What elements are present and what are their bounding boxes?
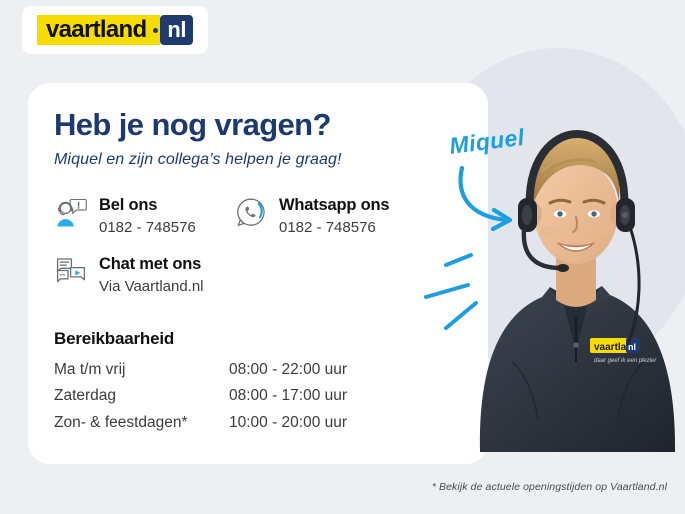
footnote: * Bekijk de actuele openingstijden op Va…	[432, 481, 667, 493]
page-subtitle: Miquel en zijn collega’s helpen je graag…	[54, 151, 488, 169]
contact-card: Heb je nog vragen? Miquel en zijn colleg…	[28, 83, 488, 464]
brand-logo-word: vaartland	[37, 15, 153, 45]
hours-time: 10:00 - 20:00 uur	[229, 412, 379, 438]
headset-person-icon	[54, 196, 88, 230]
table-row: Ma t/m vrij 08:00 - 22:00 uur	[54, 359, 379, 385]
contact-title: Chat met ons	[99, 255, 204, 274]
opening-hours-title: Bereikbaarheid	[54, 329, 488, 349]
spark-lines-icon	[424, 243, 514, 338]
svg-text:daar geef ik een plezier: daar geef ik een plezier	[594, 358, 657, 364]
contact-methods: Bel ons 0182 - 748576	[54, 195, 488, 295]
contact-method-call[interactable]: Bel ons 0182 - 748576	[54, 195, 234, 236]
contact-title: Whatsapp ons	[279, 196, 389, 215]
curved-arrow-icon	[440, 160, 550, 238]
hours-time: 08:00 - 17:00 uur	[229, 385, 379, 411]
brand-logo-tld: nl	[160, 15, 193, 45]
hours-time: 08:00 - 22:00 uur	[229, 359, 379, 385]
brand-logo-lockup: vaartland nl	[37, 15, 193, 45]
opening-hours: Bereikbaarheid Ma t/m vrij 08:00 - 22:00…	[54, 329, 488, 438]
contact-title: Bel ons	[99, 196, 196, 215]
whatsapp-icon	[234, 196, 268, 230]
contact-method-chat[interactable]: Chat met ons Via Vaartland.nl	[54, 254, 314, 295]
brand-logo[interactable]: vaartland nl	[22, 6, 208, 54]
hours-day: Zaterdag	[54, 385, 229, 411]
hours-day: Zon- & feestdagen*	[54, 412, 229, 438]
page-title: Heb je nog vragen?	[54, 109, 488, 142]
contact-value: Via Vaartland.nl	[99, 278, 204, 295]
hours-day: Ma t/m vrij	[54, 359, 229, 385]
opening-hours-table: Ma t/m vrij 08:00 - 22:00 uur Zaterdag 0…	[54, 359, 379, 438]
contact-value: 0182 - 748576	[99, 219, 196, 236]
table-row: Zon- & feestdagen* 10:00 - 20:00 uur	[54, 412, 379, 438]
contact-value: 0182 - 748576	[279, 219, 389, 236]
dot-separator-icon	[153, 15, 160, 45]
table-row: Zaterdag 08:00 - 17:00 uur	[54, 385, 379, 411]
promo-banner: vaartland nl Heb je nog vragen? Miquel e…	[0, 0, 685, 514]
contact-method-whatsapp[interactable]: Whatsapp ons 0182 - 748576	[234, 195, 449, 236]
chat-bubbles-icon	[54, 255, 88, 289]
